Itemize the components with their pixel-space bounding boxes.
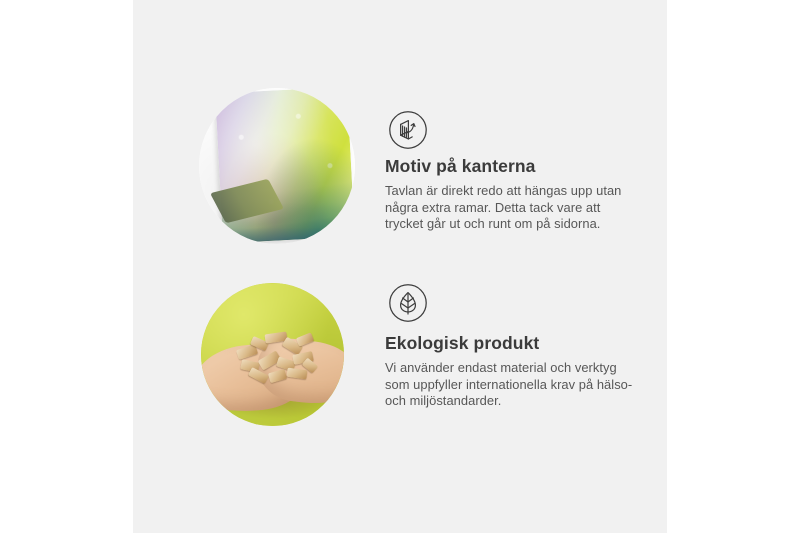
canvas-photo-backdrop xyxy=(199,88,355,244)
feature-description: Vi använder endast material och verktyg … xyxy=(385,360,640,409)
canvas-corner-photo xyxy=(199,88,355,244)
feature-title: Motiv på kanterna xyxy=(385,156,640,176)
feature-text-motiv-pa-kanterna: Motiv på kanterna Tavlan är direkt redo … xyxy=(385,156,640,232)
feature-text-ekologisk-produkt: Ekologisk produkt Vi använder endast mat… xyxy=(385,333,640,409)
feature-title: Ekologisk produkt xyxy=(385,333,640,353)
wood-chip-pile xyxy=(235,331,319,383)
product-feature-panel: Motiv på kanterna Tavlan är direkt redo … xyxy=(0,0,800,533)
content-panel: Motiv på kanterna Tavlan är direkt redo … xyxy=(133,0,667,533)
canvas-wrapped-edges-icon xyxy=(388,110,428,150)
leaf-icon xyxy=(388,283,428,323)
hands-wood-chips-photo xyxy=(201,283,344,426)
feature-description: Tavlan är direkt redo att hängas upp uta… xyxy=(385,183,640,232)
